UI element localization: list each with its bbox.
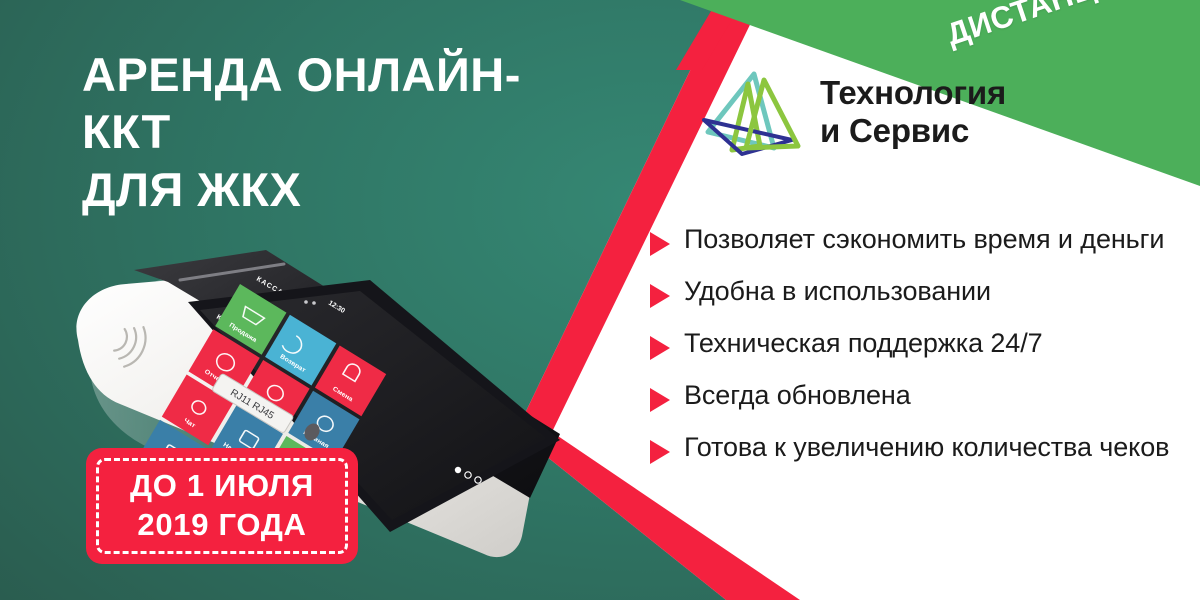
list-item: Позволяет сэкономить время и деньги — [650, 222, 1174, 257]
company-logo: Технология и Сервис — [702, 62, 1006, 162]
deadline-line-2: 2019 года — [137, 507, 306, 544]
list-item: Техническая поддержка 24/7 — [650, 326, 1174, 361]
list-item: Всегда обновлена — [650, 378, 1174, 413]
triangle-bullet-icon — [650, 336, 670, 360]
triangle-bullet-icon — [650, 232, 670, 256]
list-item: Удобна в использовании — [650, 274, 1174, 309]
benefits-list: Позволяет сэкономить время и деньги Удоб… — [650, 222, 1174, 482]
triangle-bullet-icon — [650, 440, 670, 464]
promo-banner: ДИСТАНЦИОННО Аренда онлайн-ККТ для ЖКХ — [0, 0, 1200, 600]
status-icon-dot — [312, 301, 316, 305]
triangle-bullet-icon — [650, 284, 670, 308]
logo-triangles-icon — [702, 62, 806, 162]
deadline-badge: До 1 июля 2019 года — [86, 448, 358, 564]
benefit-text: Готова к увеличению количества чеков — [684, 430, 1169, 465]
headline-line-1: Аренда онлайн-ККТ — [82, 48, 521, 158]
headline-line-2: для ЖКХ — [82, 161, 552, 218]
logo-name-line-2: и Сервис — [820, 112, 1006, 150]
deadline-line-1: До 1 июля — [130, 468, 314, 505]
benefit-text: Позволяет сэкономить время и деньги — [684, 222, 1164, 257]
benefit-text: Всегда обновлена — [684, 378, 911, 413]
logo-name-line-1: Технология — [820, 74, 1006, 112]
page-title: Аренда онлайн-ККТ для ЖКХ — [82, 46, 552, 218]
logo-wordmark: Технология и Сервис — [820, 74, 1006, 151]
deadline-badge-border: До 1 июля 2019 года — [96, 458, 348, 554]
list-item: Готова к увеличению количества чеков — [650, 430, 1174, 465]
triangle-bullet-icon — [650, 388, 670, 412]
status-icon-dot — [304, 300, 308, 304]
benefit-text: Удобна в использовании — [684, 274, 991, 309]
benefit-text: Техническая поддержка 24/7 — [684, 326, 1043, 361]
